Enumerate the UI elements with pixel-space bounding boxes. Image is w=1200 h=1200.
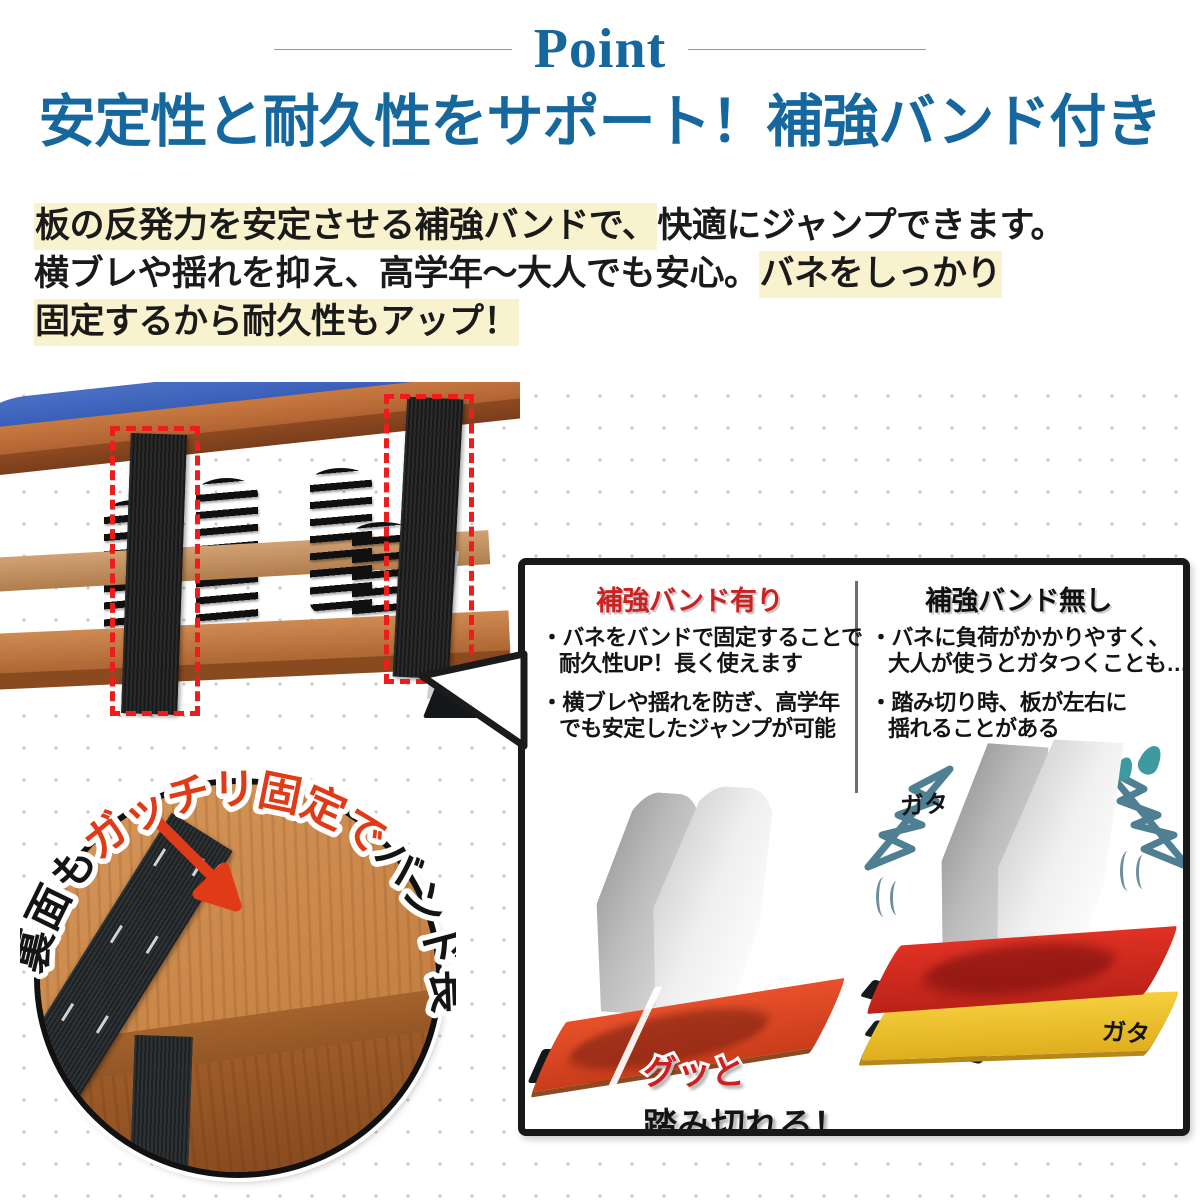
comparison-column-without-band: 補強バンド無し ・バネに負荷がかかりやすく、 大人が使うとガタつくことも… ・踏… bbox=[854, 565, 1183, 1129]
lede-line-2-plain: 横ブレや揺れを抑え、高学年～大人でも安心。 bbox=[34, 254, 759, 293]
arc-part-black-1: 裏面も bbox=[20, 837, 106, 977]
callout-arrow-icon bbox=[418, 650, 528, 750]
lede-line-3-highlight: 固定するから耐久性もアップ！ bbox=[34, 299, 519, 346]
bullet-line: ・バネに負荷がかかりやすく、 bbox=[870, 625, 1180, 651]
bullet-list-without-band: ・バネに負荷がかかりやすく、 大人が使うとガタつくことも… ・踏み切り時、板が左… bbox=[870, 625, 1180, 755]
column-heading-without-band: 補強バンド無し bbox=[854, 579, 1183, 618]
bullet-line: ・バネをバンドで固定することで bbox=[541, 625, 851, 651]
lede-line-2-highlight: バネをしっかり bbox=[759, 251, 1003, 298]
lede-line-1: 板の反発力を安定させる補強バンドで、快適にジャンプできます。 bbox=[34, 208, 1174, 243]
bullet-line: ・横ブレや揺れを防ぎ、高学年 bbox=[541, 690, 851, 716]
lede-line-2: 横ブレや揺れを抑え、高学年～大人でも安心。バネをしっかり bbox=[34, 256, 1174, 291]
page-title: 安定性と耐久性をサポート！補強バンド付き bbox=[0, 76, 1200, 158]
divider-line-right bbox=[688, 49, 926, 50]
lede-line-3: 固定するから耐久性もアップ！ bbox=[34, 304, 1174, 339]
label-stable-jump: グッと 踏み切れる！ bbox=[643, 1045, 847, 1129]
arched-callout-text: 裏面もガッチリ固定でバンド長持ち 裏面もガッチリ固定でバンド長持ち bbox=[20, 768, 456, 1068]
bullet-line: でも安定したジャンプが可能 bbox=[541, 716, 851, 742]
comparison-column-with-band: 補強バンド有り ・バネをバンドで固定することで 耐久性UP！長く使えます ・横ブ… bbox=[525, 565, 854, 1129]
point-eyebrow-label: Point bbox=[534, 21, 667, 77]
label-rattle-1: ガタ bbox=[899, 783, 949, 821]
lede-paragraph: 板の反発力を安定させる補強バンドで、快適にジャンプできます。 横ブレや揺れを抑え… bbox=[34, 208, 1174, 352]
header: Point 安定性と耐久性をサポート！補強バンド付き bbox=[0, 0, 1200, 175]
shake-line-icon bbox=[1136, 855, 1150, 889]
bullet-item: ・バネに負荷がかかりやすく、 大人が使うとガタつくことも… bbox=[870, 625, 1180, 677]
shake-line-icon bbox=[1120, 851, 1136, 891]
arched-text-fill: 裏面もガッチリ固定でバンド長持ち bbox=[20, 768, 456, 1015]
circular-callout: 裏面もガッチリ固定でバンド長持ち 裏面もガッチリ固定でバンド長持ち bbox=[20, 768, 456, 1188]
illustration-stable-jump: グッと 踏み切れる！ bbox=[535, 777, 855, 1117]
lede-line-1-highlight: 板の反発力を安定させる補強バンドで、 bbox=[34, 203, 657, 250]
arc-part-red: ガッチリ固定で bbox=[75, 768, 395, 868]
bullet-item: ・バネをバンドで固定することで 耐久性UP！長く使えます bbox=[541, 625, 851, 677]
highlight-dashed-box-right bbox=[384, 394, 474, 684]
bullet-item: ・横ブレや揺れを防ぎ、高学年 でも安定したジャンプが可能 bbox=[541, 690, 851, 742]
bullet-item: ・踏み切り時、板が左右に 揺れることがある bbox=[870, 690, 1180, 742]
label-rattle-2: ガタ bbox=[1101, 1011, 1151, 1049]
bullet-line: ・踏み切り時、板が左右に bbox=[870, 690, 1180, 716]
lede-line-1-rest: 快適にジャンプできます。 bbox=[657, 206, 1065, 245]
bullet-line: 揺れることがある bbox=[870, 716, 1180, 742]
bullet-list-with-band: ・バネをバンドで固定することで 耐久性UP！長く使えます ・横ブレや揺れを防ぎ、… bbox=[541, 625, 851, 755]
column-heading-with-band: 補強バンド有り bbox=[525, 579, 854, 618]
label-emphasis-guu: グッと bbox=[643, 1045, 847, 1094]
bullet-line: 耐久性UP！長く使えます bbox=[541, 651, 851, 677]
label-result-fumikireru: 踏み切れる！ bbox=[643, 1098, 847, 1129]
point-eyebrow-row: Point bbox=[0, 18, 1200, 80]
bullet-line: 大人が使うとガタつくことも… bbox=[870, 651, 1180, 677]
divider-line-left bbox=[274, 49, 512, 50]
shake-line-icon bbox=[890, 881, 904, 915]
comparison-panel: 補強バンド有り ・バネをバンドで固定することで 耐久性UP！長く使えます ・横ブ… bbox=[518, 558, 1190, 1136]
illustration-wobbly-jump: ガタ ガタ bbox=[864, 745, 1183, 1125]
highlight-dashed-box-left bbox=[110, 426, 200, 716]
